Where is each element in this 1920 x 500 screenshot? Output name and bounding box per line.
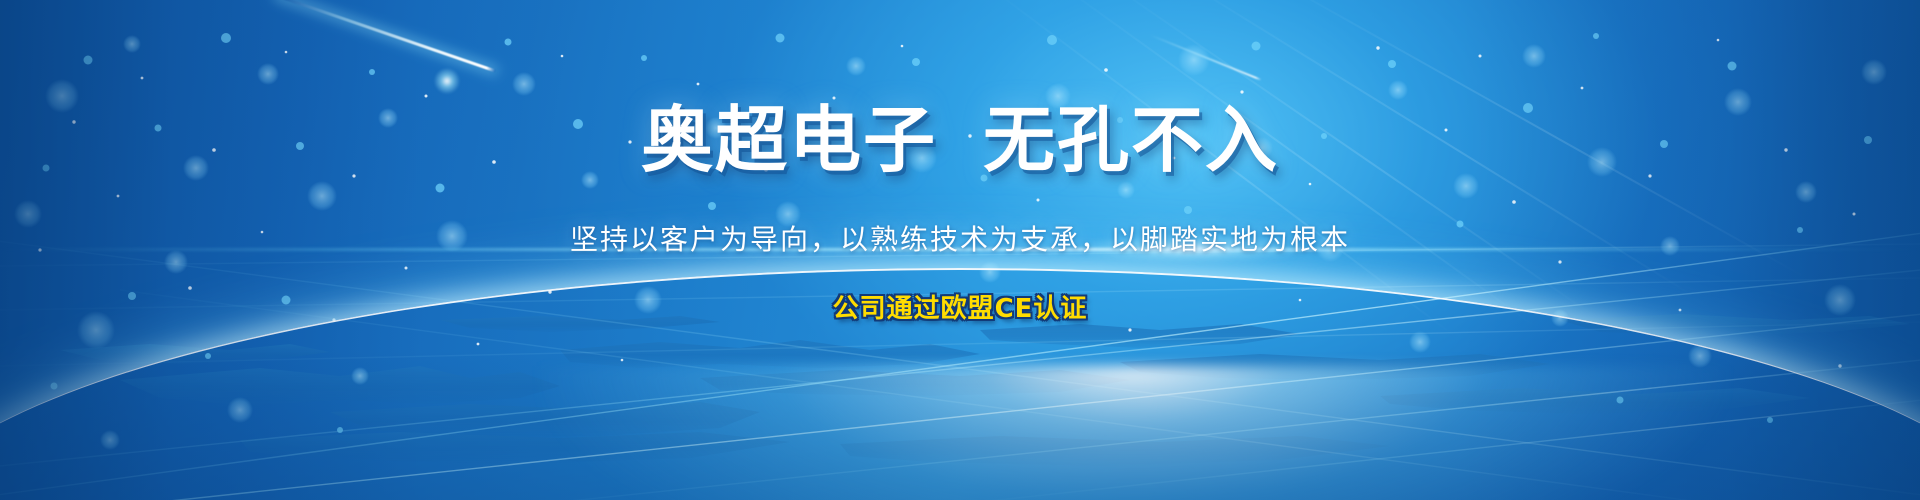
banner-headline: 奥超电子无孔不入 — [641, 104, 1279, 176]
certification-badge: 公司通过欧盟CE认证 — [833, 258, 1088, 325]
banner-content: 奥超电子无孔不入 坚持以客户为导向，以熟练技术为支承，以脚踏实地为根本 公司通过… — [0, 0, 1920, 500]
hero-banner: 奥超电子无孔不入 坚持以客户为导向，以熟练技术为支承，以脚踏实地为根本 公司通过… — [0, 0, 1920, 500]
headline-part-1: 奥超电子 — [641, 98, 937, 182]
headline-part-2: 无孔不入 — [983, 98, 1279, 182]
banner-subtitle: 坚持以客户为导向，以熟练技术为支承，以脚踏实地为根本 — [570, 176, 1350, 258]
